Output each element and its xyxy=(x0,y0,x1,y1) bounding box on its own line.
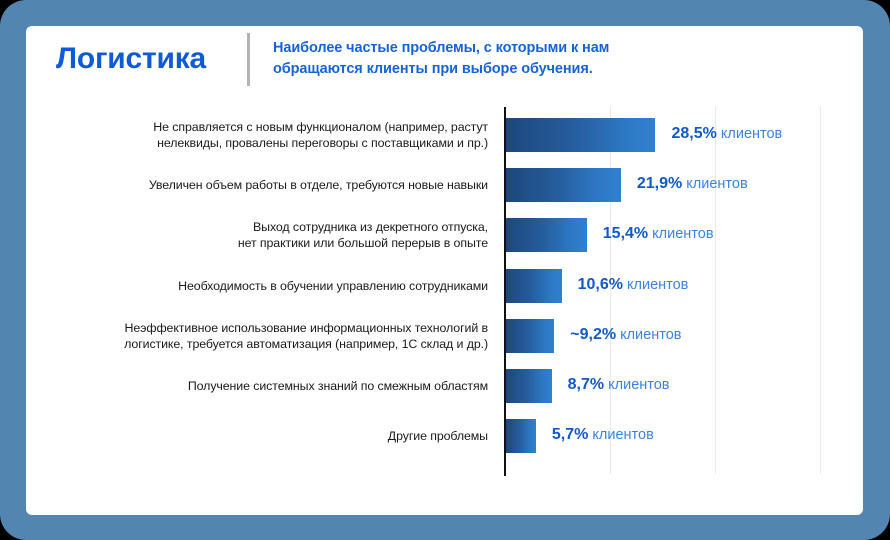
page-title: Логистика xyxy=(56,42,206,76)
bar-chart: Не справляется с новым функционалом (нап… xyxy=(26,104,863,515)
bar-row: Необходимость в обучении управлению сотр… xyxy=(26,261,863,311)
bar-value-percent: 28,5% xyxy=(671,125,716,142)
bar-value-percent: 8,7% xyxy=(568,376,604,393)
bar xyxy=(506,269,562,303)
category-label-line: Выход сотрудника из декретного отпуска, xyxy=(68,219,488,235)
category-label-line: логистике, требуется автоматизация (напр… xyxy=(68,336,488,352)
category-label: Необходимость в обучении управлению сотр… xyxy=(68,278,488,294)
bar-value-label: 5,7% клиентов xyxy=(552,426,654,444)
category-label-line: Не справляется с новым функционалом (нап… xyxy=(68,119,488,135)
category-label-line: нет практики или большой перерыв в опыте xyxy=(68,235,488,251)
bar-value-percent: 5,7% xyxy=(552,426,588,443)
category-label: Другие проблемы xyxy=(68,428,488,444)
card-header: Логистика Наиболее частые проблемы, с ко… xyxy=(26,26,863,104)
chart-card: Логистика Наиболее частые проблемы, с ко… xyxy=(26,26,863,515)
bar-row: Не справляется с новым функционалом (нап… xyxy=(26,110,863,160)
category-label-line: Неэффективное использование информационн… xyxy=(68,320,488,336)
bar xyxy=(506,118,655,152)
bar-value-unit: клиентов xyxy=(627,277,688,293)
category-label-line: Необходимость в обучении управлению сотр… xyxy=(68,278,488,294)
category-label-line: Другие проблемы xyxy=(68,428,488,444)
outer-frame: Логистика Наиболее частые проблемы, с ко… xyxy=(0,0,890,540)
bar-row: Увеличен объем работы в отделе, требуютс… xyxy=(26,160,863,210)
header-divider xyxy=(247,33,250,86)
subtitle-line-1: Наиболее частые проблемы, с которыми к н… xyxy=(273,38,673,59)
bar-value-label: 8,7% клиентов xyxy=(568,376,670,394)
bar-value-label: 28,5% клиентов xyxy=(671,125,782,143)
bar xyxy=(506,218,587,252)
category-label: Выход сотрудника из декретного отпуска,н… xyxy=(68,219,488,251)
bar-value-percent: 10,6% xyxy=(578,276,623,293)
bar xyxy=(506,319,554,353)
bar xyxy=(506,168,621,202)
bar-value-label: 15,4% клиентов xyxy=(603,225,714,243)
bar-row: Другие проблемы5,7% клиентов xyxy=(26,411,863,461)
subtitle-line-2: обращаются клиенты при выборе обучения. xyxy=(273,59,673,80)
bar-value-label: 10,6% клиентов xyxy=(578,276,689,294)
bar-value-unit: клиентов xyxy=(592,427,653,443)
category-label: Не справляется с новым функционалом (нап… xyxy=(68,119,488,151)
category-label: Получение системных знаний по смежным об… xyxy=(68,378,488,394)
bar-value-percent: 21,9% xyxy=(637,175,682,192)
category-label-line: Увеличен объем работы в отделе, требуютс… xyxy=(68,177,488,193)
bar xyxy=(506,369,552,403)
bar-value-unit: клиентов xyxy=(686,176,747,192)
bar xyxy=(506,419,536,453)
bar-row: Выход сотрудника из декретного отпуска,н… xyxy=(26,210,863,260)
category-label: Увеличен объем работы в отделе, требуютс… xyxy=(68,177,488,193)
bar-row: Неэффективное использование информационн… xyxy=(26,311,863,361)
category-label-line: нелеквиды, провалены переговоры с постав… xyxy=(68,135,488,151)
bar-value-percent: 15,4% xyxy=(603,225,648,242)
bar-row: Получение системных знаний по смежным об… xyxy=(26,361,863,411)
category-label-line: Получение системных знаний по смежным об… xyxy=(68,378,488,394)
bar-value-label: 21,9% клиентов xyxy=(637,175,748,193)
category-label: Неэффективное использование информационн… xyxy=(68,320,488,352)
header-subtitle: Наиболее частые проблемы, с которыми к н… xyxy=(273,38,673,80)
bar-value-unit: клиентов xyxy=(620,327,681,343)
bar-value-unit: клиентов xyxy=(652,226,713,242)
bar-value-label: ~9,2% клиентов xyxy=(570,326,681,344)
bar-value-percent: ~9,2% xyxy=(570,326,616,343)
bar-value-unit: клиентов xyxy=(721,126,782,142)
bar-value-unit: клиентов xyxy=(608,377,669,393)
